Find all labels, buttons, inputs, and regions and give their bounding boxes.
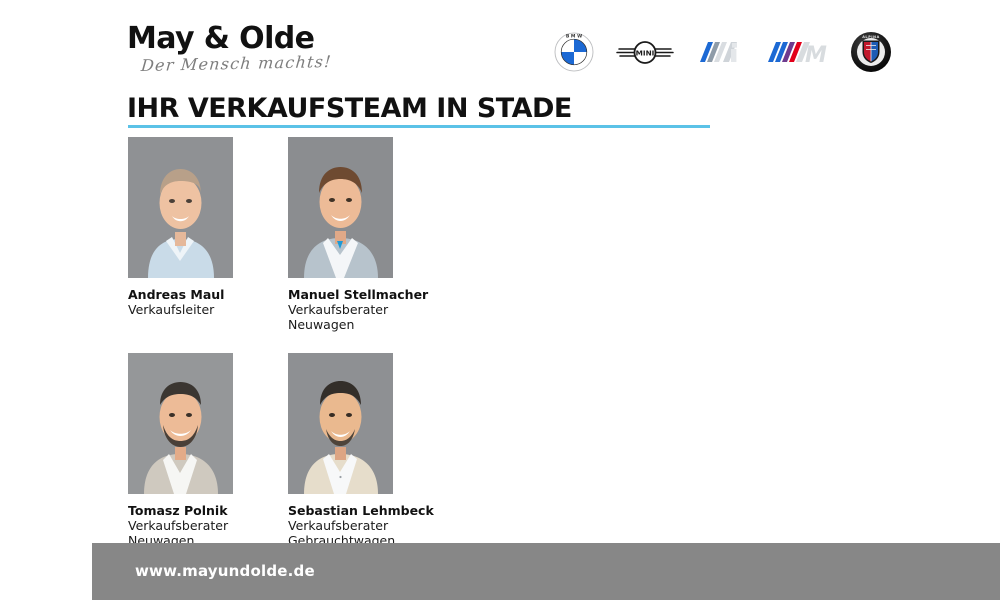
team-member-card: Sebastian Lehmbeck Verkaufsberater Gebra… [288,353,393,548]
title-underline [128,125,710,128]
footer-website-url[interactable]: www.mayundolde.de [135,562,315,580]
bmw-m-logo: M [766,38,828,66]
team-member-card: Andreas Maul Verkaufsleiter [128,137,233,332]
svg-text:MINI: MINI [636,48,655,57]
slide-page: May & Olde Der Mensch machts! B M W [0,0,1000,600]
team-member-card: Tomasz Polnik Verkaufsberater Neuwagen [128,353,233,548]
member-role-line1: Verkaufsberater [128,518,233,533]
team-row: Andreas Maul Verkaufsleiter [128,137,548,332]
bmw-i-logo [696,38,744,66]
member-role-line1: Verkaufsleiter [128,302,233,317]
member-role-line2: Neuwagen [288,317,393,332]
svg-text:M: M [805,43,827,66]
company-name: May & Olde [127,24,387,54]
team-member-card: Manuel Stellmacher Verkaufsberater Neuwa… [288,137,393,332]
mini-logo: MINI [616,37,674,67]
svg-text:B M W: B M W [566,34,582,40]
footer-bar: www.mayundolde.de [92,543,1000,600]
member-role-line1: Verkaufsberater [288,302,393,317]
member-name: Tomasz Polnik [128,503,233,518]
company-tagline: Der Mensch machts! [140,51,388,76]
team-grid: Andreas Maul Verkaufsleiter [128,137,548,548]
company-logo: May & Olde Der Mensch machts! [127,24,387,84]
page-title: IHR VERKAUFSTEAM IN STADE [127,93,572,124]
alpina-logo: ALPINA [850,31,892,73]
brand-logo-strip: B M W MINI [554,27,892,77]
svg-text:ALPINA: ALPINA [862,35,880,39]
team-row: Tomasz Polnik Verkaufsberater Neuwagen [128,353,548,548]
portrait-tomasz-polnik [128,353,233,494]
portrait-andreas-maul [128,137,233,278]
bmw-logo: B M W [554,32,594,72]
member-name: Manuel Stellmacher [288,287,393,302]
member-name: Andreas Maul [128,287,233,302]
member-role-line1: Verkaufsberater [288,518,393,533]
member-name: Sebastian Lehmbeck [288,503,393,518]
portrait-sebastian-lehmbeck [288,353,393,494]
portrait-manuel-stellmacher [288,137,393,278]
